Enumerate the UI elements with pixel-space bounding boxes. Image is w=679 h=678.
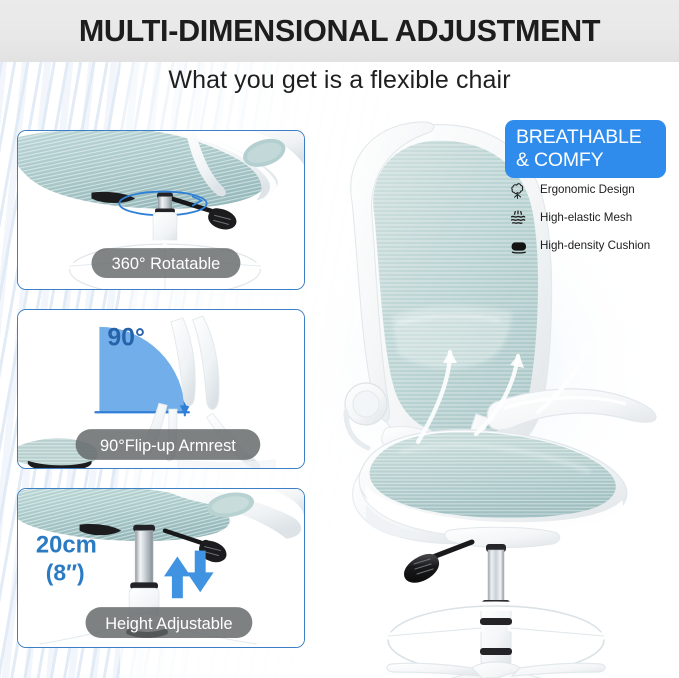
badge-line-2: & COMFY: [516, 149, 657, 172]
panel-height-adjustable: 20cm (8″) Height Adjustable: [17, 488, 305, 648]
panel-rotatable-caption: 360° Rotatable: [112, 255, 221, 273]
panel-armrest-annotation: 90°: [107, 325, 145, 352]
feature-label: High-elastic Mesh: [540, 211, 632, 224]
badge-line-1: BREATHABLE: [516, 126, 657, 149]
panel-360-rotatable: 360° Rotatable: [17, 130, 305, 290]
panel-height-image: 20cm (8″) Height Adjustable: [18, 489, 304, 648]
panel-height-annotation-sub: (8″): [46, 559, 85, 585]
feature-item-ergonomic-design: Ergonomic Design: [508, 177, 679, 202]
cotton-flower-icon: [508, 179, 534, 201]
wave-mesh-icon: [508, 207, 534, 229]
cushion-icon: [508, 235, 534, 257]
page-subtitle: What you get is a flexible chair: [0, 66, 679, 95]
feature-label: High-density Cushion: [540, 239, 650, 252]
feature-label: Ergonomic Design: [540, 183, 635, 196]
panel-90-flip-up-armrest: 90° 90°Flip-up Armrest: [17, 309, 305, 469]
feature-list: Ergonomic Design High-elastic Mesh H: [508, 177, 679, 261]
feature-item-high-density-cushion: High-density Cushion: [508, 233, 679, 258]
panel-height-annotation: 20cm: [36, 532, 97, 559]
infographic-page: MULTI-DIMENSIONAL ADJUSTMENT What you ge…: [0, 0, 679, 678]
panel-rotatable-image: 360° Rotatable: [18, 131, 304, 290]
page-title: MULTI-DIMENSIONAL ADJUSTMENT: [79, 14, 600, 49]
feature-item-high-elastic-mesh: High-elastic Mesh: [508, 205, 679, 230]
panel-height-caption: Height Adjustable: [105, 615, 232, 633]
panel-armrest-image: 90° 90°Flip-up Armrest: [18, 310, 304, 469]
panel-armrest-caption: 90°Flip-up Armrest: [100, 437, 236, 455]
header-band: MULTI-DIMENSIONAL ADJUSTMENT: [0, 0, 679, 62]
breathable-comfy-badge: BREATHABLE & COMFY: [505, 120, 666, 178]
